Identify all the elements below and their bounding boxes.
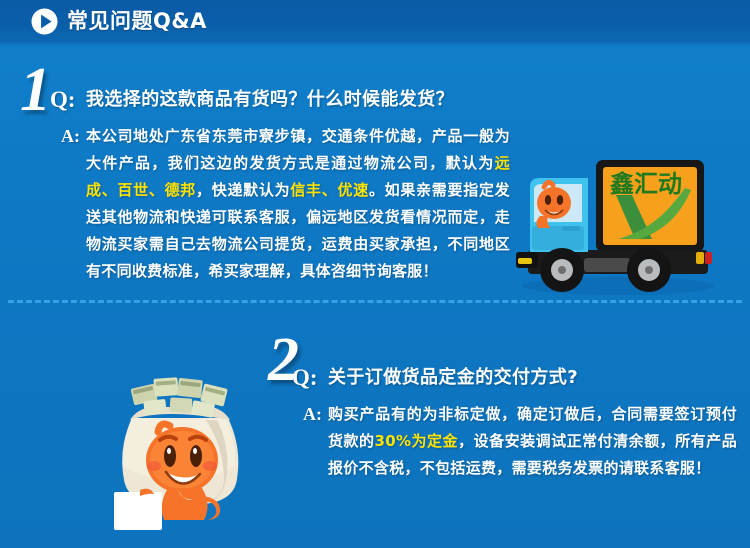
section-divider	[8, 300, 742, 303]
delivery-truck-illustration: 鑫汇动	[500, 140, 732, 305]
question-label-1: Q:	[50, 87, 86, 113]
answer-row-2: A: 购买产品有的为非标定做，确定订做后，合同需要签订预付货款的30%为定金，设…	[292, 401, 737, 482]
faq-number-1: 1	[20, 59, 51, 121]
body-text: 本公司地处广东省东莞市寮步镇，交通条件优越，产品一般为大件产品，我们这边的发货方…	[86, 127, 510, 172]
answer-label-1: A:	[50, 123, 86, 150]
highlighted-text: 30%为定金	[375, 432, 459, 450]
truck-svg: 鑫汇动	[500, 140, 732, 305]
highlighted-text: 信丰、优速	[290, 181, 369, 199]
answer-text-1: 本公司地处广东省东莞市寮步镇，交通条件优越，产品一般为大件产品，我们这边的发货方…	[86, 123, 510, 285]
header-underline	[0, 42, 750, 47]
money-bag-svg	[110, 370, 285, 530]
question-text-2: 关于订做货品定金的交付方式?	[328, 365, 578, 391]
question-row-2: Q: 关于订做货品定金的交付方式?	[292, 365, 737, 391]
body-text: ，快递默认为	[196, 181, 290, 199]
faq-text-2: Q: 关于订做货品定金的交付方式? A: 购买产品有的为非标定做，确定订做后，合…	[292, 365, 737, 482]
play-circle-icon	[31, 8, 58, 35]
answer-text-2: 购买产品有的为非标定做，确定订做后，合同需要签订预付货款的30%为定金，设备安装…	[328, 401, 737, 482]
faq-item-1: 1 Q: 我选择的这款商品有货吗？什么时候能发货？ A: 本公司地处广东省东莞市…	[0, 55, 750, 290]
faq-page: 常见问题Q&A 1 Q: 我选择的这款商品有货吗？什么时候能发货？ A: 本公司…	[0, 0, 750, 548]
page-header: 常见问题Q&A	[0, 0, 750, 42]
cash-stack	[131, 377, 228, 418]
answer-row-1: A: 本公司地处广东省东莞市寮步镇，交通条件优越，产品一般为大件产品，我们这边的…	[50, 123, 510, 285]
svg-text:鑫汇动: 鑫汇动	[610, 170, 682, 198]
money-bag-mascot-illustration	[110, 370, 285, 530]
page-title: 常见问题Q&A	[67, 11, 207, 32]
answer-label-2: A:	[292, 401, 328, 428]
question-text-1: 我选择的这款商品有货吗？什么时候能发货？	[86, 87, 454, 113]
question-label-2: Q:	[292, 365, 328, 391]
faq-text-1: Q: 我选择的这款商品有货吗？什么时候能发货？ A: 本公司地处广东省东莞市寮步…	[50, 87, 510, 285]
question-row-1: Q: 我选择的这款商品有货吗？什么时候能发货？	[50, 87, 510, 113]
